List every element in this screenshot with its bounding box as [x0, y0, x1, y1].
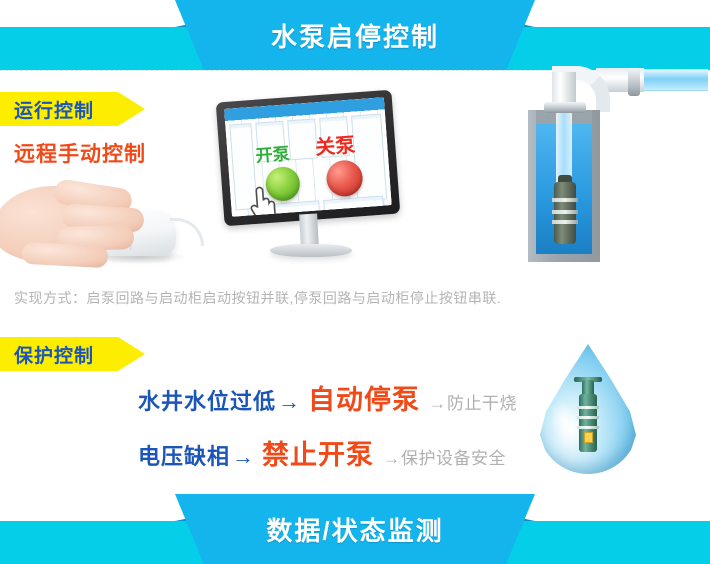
bottom-banner-title: 数据/状态监测	[175, 494, 535, 564]
tag-protection-control-label: 保护控制	[0, 341, 94, 368]
rule-result-arrow: →	[426, 394, 447, 414]
hand-thumb	[21, 242, 108, 268]
droplet-pump-band	[577, 406, 599, 409]
tag-run-control: 运行控制	[0, 92, 145, 126]
rule-action: 禁止开泵	[256, 433, 380, 472]
stop-pump-label: 关泵	[314, 129, 356, 161]
scada-panel	[287, 118, 318, 160]
pump-ring	[552, 210, 578, 214]
hand-on-mouse-illustration	[0, 168, 197, 278]
rule-result: 防止干烧	[447, 389, 517, 414]
infographic-page: 水泵启停控制 运行控制 远程手动控制	[0, 0, 710, 564]
pipe-flange-horizontal	[628, 68, 640, 96]
droplet-pump-head	[582, 380, 594, 395]
bottom-banner: 数据/状态监测	[0, 494, 710, 564]
top-banner: 水泵启停控制	[0, 0, 710, 70]
monitor-base	[270, 244, 352, 257]
discharge-pipe-water	[640, 69, 708, 91]
monitor-bezel: 开泵 关泵	[216, 90, 401, 227]
water-droplet-with-pump-icon	[536, 344, 640, 476]
implementation-note: 实现方式：启泵回路与启动柜启动按钮并联,停泵回路与启动柜停止按钮串联.	[14, 288, 501, 308]
rule-result: 保护设备安全	[401, 444, 506, 469]
droplet-pump-band	[577, 416, 599, 419]
monitor-screen: 开泵 关泵	[224, 97, 391, 216]
pipe-flange-wellhead	[544, 102, 586, 113]
tag-protection-control: 保护控制	[0, 337, 145, 371]
mouse-cable	[170, 218, 204, 246]
droplet-pump-band	[577, 426, 599, 429]
start-pump-label: 开泵	[255, 139, 291, 166]
desktop-monitor-illustration: 开泵 关泵	[208, 96, 403, 268]
submersible-well-pump-diagram	[496, 62, 708, 272]
droplet-pump-nameplate	[584, 432, 593, 443]
top-banner-title: 水泵启停控制	[175, 0, 535, 70]
rule-condition: 水井水位过低	[138, 384, 276, 416]
remote-manual-subtitle: 远程手动控制	[14, 138, 146, 168]
rule-arrow: →	[276, 389, 302, 415]
scada-panel	[323, 196, 385, 217]
rule-result-arrow: →	[380, 449, 401, 469]
droplet-pump-body	[579, 394, 597, 452]
rule-action: 自动停泵	[302, 378, 426, 417]
pump-ring	[552, 220, 578, 224]
hand-pointer-icon	[246, 183, 279, 216]
pump-ring	[552, 198, 578, 202]
rule-arrow: →	[230, 444, 256, 470]
tag-run-control-label: 运行控制	[0, 96, 94, 123]
protection-rule-row: 水井水位过低 → 自动停泵 → 防止干烧	[138, 378, 517, 417]
rule-condition: 电压缺相	[138, 439, 230, 471]
protection-rule-row: 电压缺相 → 禁止开泵 → 保护设备安全	[138, 433, 506, 472]
